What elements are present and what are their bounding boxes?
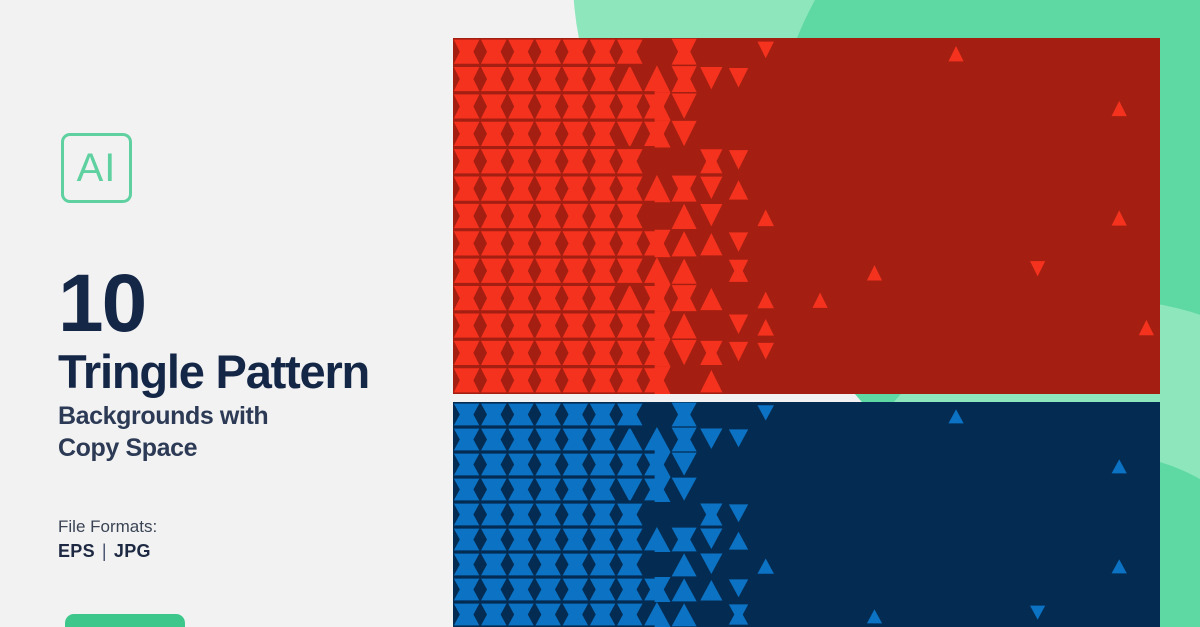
pattern-triangle [700, 204, 722, 226]
pattern-triangle [1112, 459, 1127, 473]
pattern-triangle [643, 175, 670, 202]
pattern-triangle [729, 532, 748, 550]
pattern-triangle [948, 409, 963, 423]
pattern-triangle [757, 292, 774, 309]
ai-format-badge-label: AI [77, 148, 117, 188]
pattern-triangle [729, 429, 748, 447]
pattern-triangle [643, 65, 670, 92]
pattern-triangle [757, 405, 774, 420]
pattern-triangle [729, 150, 748, 169]
pattern-triangle [616, 427, 643, 452]
file-format-jpg: JPG [114, 541, 151, 561]
pattern-triangle [757, 42, 774, 59]
pattern-triangle [867, 265, 882, 280]
pattern-triangle [867, 609, 882, 623]
pattern-triangle [700, 67, 722, 89]
file-format-eps: EPS [58, 541, 95, 561]
pattern-triangle [643, 257, 670, 284]
pattern-triangle [672, 340, 697, 365]
poster-canvas: AI 10 Tringle Pattern Backgrounds with C… [0, 0, 1200, 627]
pattern-triangle [729, 232, 748, 251]
subtitle-line-1: Backgrounds with [58, 402, 268, 432]
pattern-triangle [643, 602, 670, 627]
headline-count: 10 [58, 263, 145, 345]
pattern-triangle [1112, 559, 1127, 573]
file-formats-value: EPS|JPG [58, 541, 151, 563]
pattern-triangle [700, 554, 722, 574]
pattern-triangle [672, 93, 697, 118]
pattern-triangle [616, 65, 643, 92]
pattern-triangle [813, 293, 828, 308]
pattern-triangle [729, 342, 748, 361]
pattern-triangle [643, 527, 670, 552]
pattern-triangle [700, 429, 722, 449]
pattern-triangle [1139, 320, 1154, 335]
pattern-triangle [672, 204, 697, 229]
pattern-triangle [700, 529, 722, 549]
pattern-triangle [672, 313, 697, 338]
page-title: Tringle Pattern [58, 348, 369, 395]
red-triangle-pattern-panel [453, 38, 1160, 394]
cta-pill-button[interactable] [65, 614, 185, 627]
pattern-triangle [700, 580, 722, 600]
pattern-triangle [643, 427, 670, 452]
pattern-triangle [757, 559, 774, 574]
red-triangle-pattern-panel-graphic [453, 38, 1160, 394]
left-info-column: AI 10 Tringle Pattern Backgrounds with C… [0, 0, 452, 627]
pattern-triangle [616, 477, 643, 502]
pattern-triangle [948, 46, 963, 61]
pattern-triangle [700, 233, 722, 255]
pattern-triangle [729, 68, 748, 87]
pattern-triangle [700, 288, 722, 310]
pattern-triangle [729, 579, 748, 597]
pattern-triangle [1112, 101, 1127, 116]
ai-format-badge: AI [61, 133, 132, 203]
pattern-triangle [672, 231, 697, 256]
pattern-triangle [757, 209, 774, 226]
pattern-triangle [1112, 210, 1127, 225]
file-format-separator: | [95, 541, 114, 561]
file-formats-label: File Formats: [58, 517, 157, 537]
pattern-triangle [700, 370, 722, 392]
blue-triangle-pattern-panel [453, 402, 1160, 627]
pattern-triangle [672, 259, 697, 284]
pattern-triangle [672, 121, 697, 146]
pattern-triangle [1030, 261, 1045, 276]
pattern-triangle [729, 314, 748, 333]
pattern-triangle [729, 180, 748, 199]
pattern-triangle [757, 343, 774, 360]
pattern-triangle [616, 120, 643, 147]
blue-triangle-pattern-panel-graphic [453, 402, 1160, 627]
pattern-triangle [672, 603, 697, 626]
pattern-triangle [672, 478, 697, 501]
subtitle-line-2: Copy Space [58, 434, 197, 464]
pattern-triangle [1030, 606, 1045, 620]
pattern-triangle [700, 177, 722, 199]
pattern-triangle [616, 284, 643, 311]
pattern-triangle [672, 553, 697, 576]
pattern-triangle [729, 504, 748, 522]
pattern-triangle [672, 453, 697, 476]
pattern-triangle [757, 319, 774, 336]
pattern-triangle [672, 578, 697, 601]
